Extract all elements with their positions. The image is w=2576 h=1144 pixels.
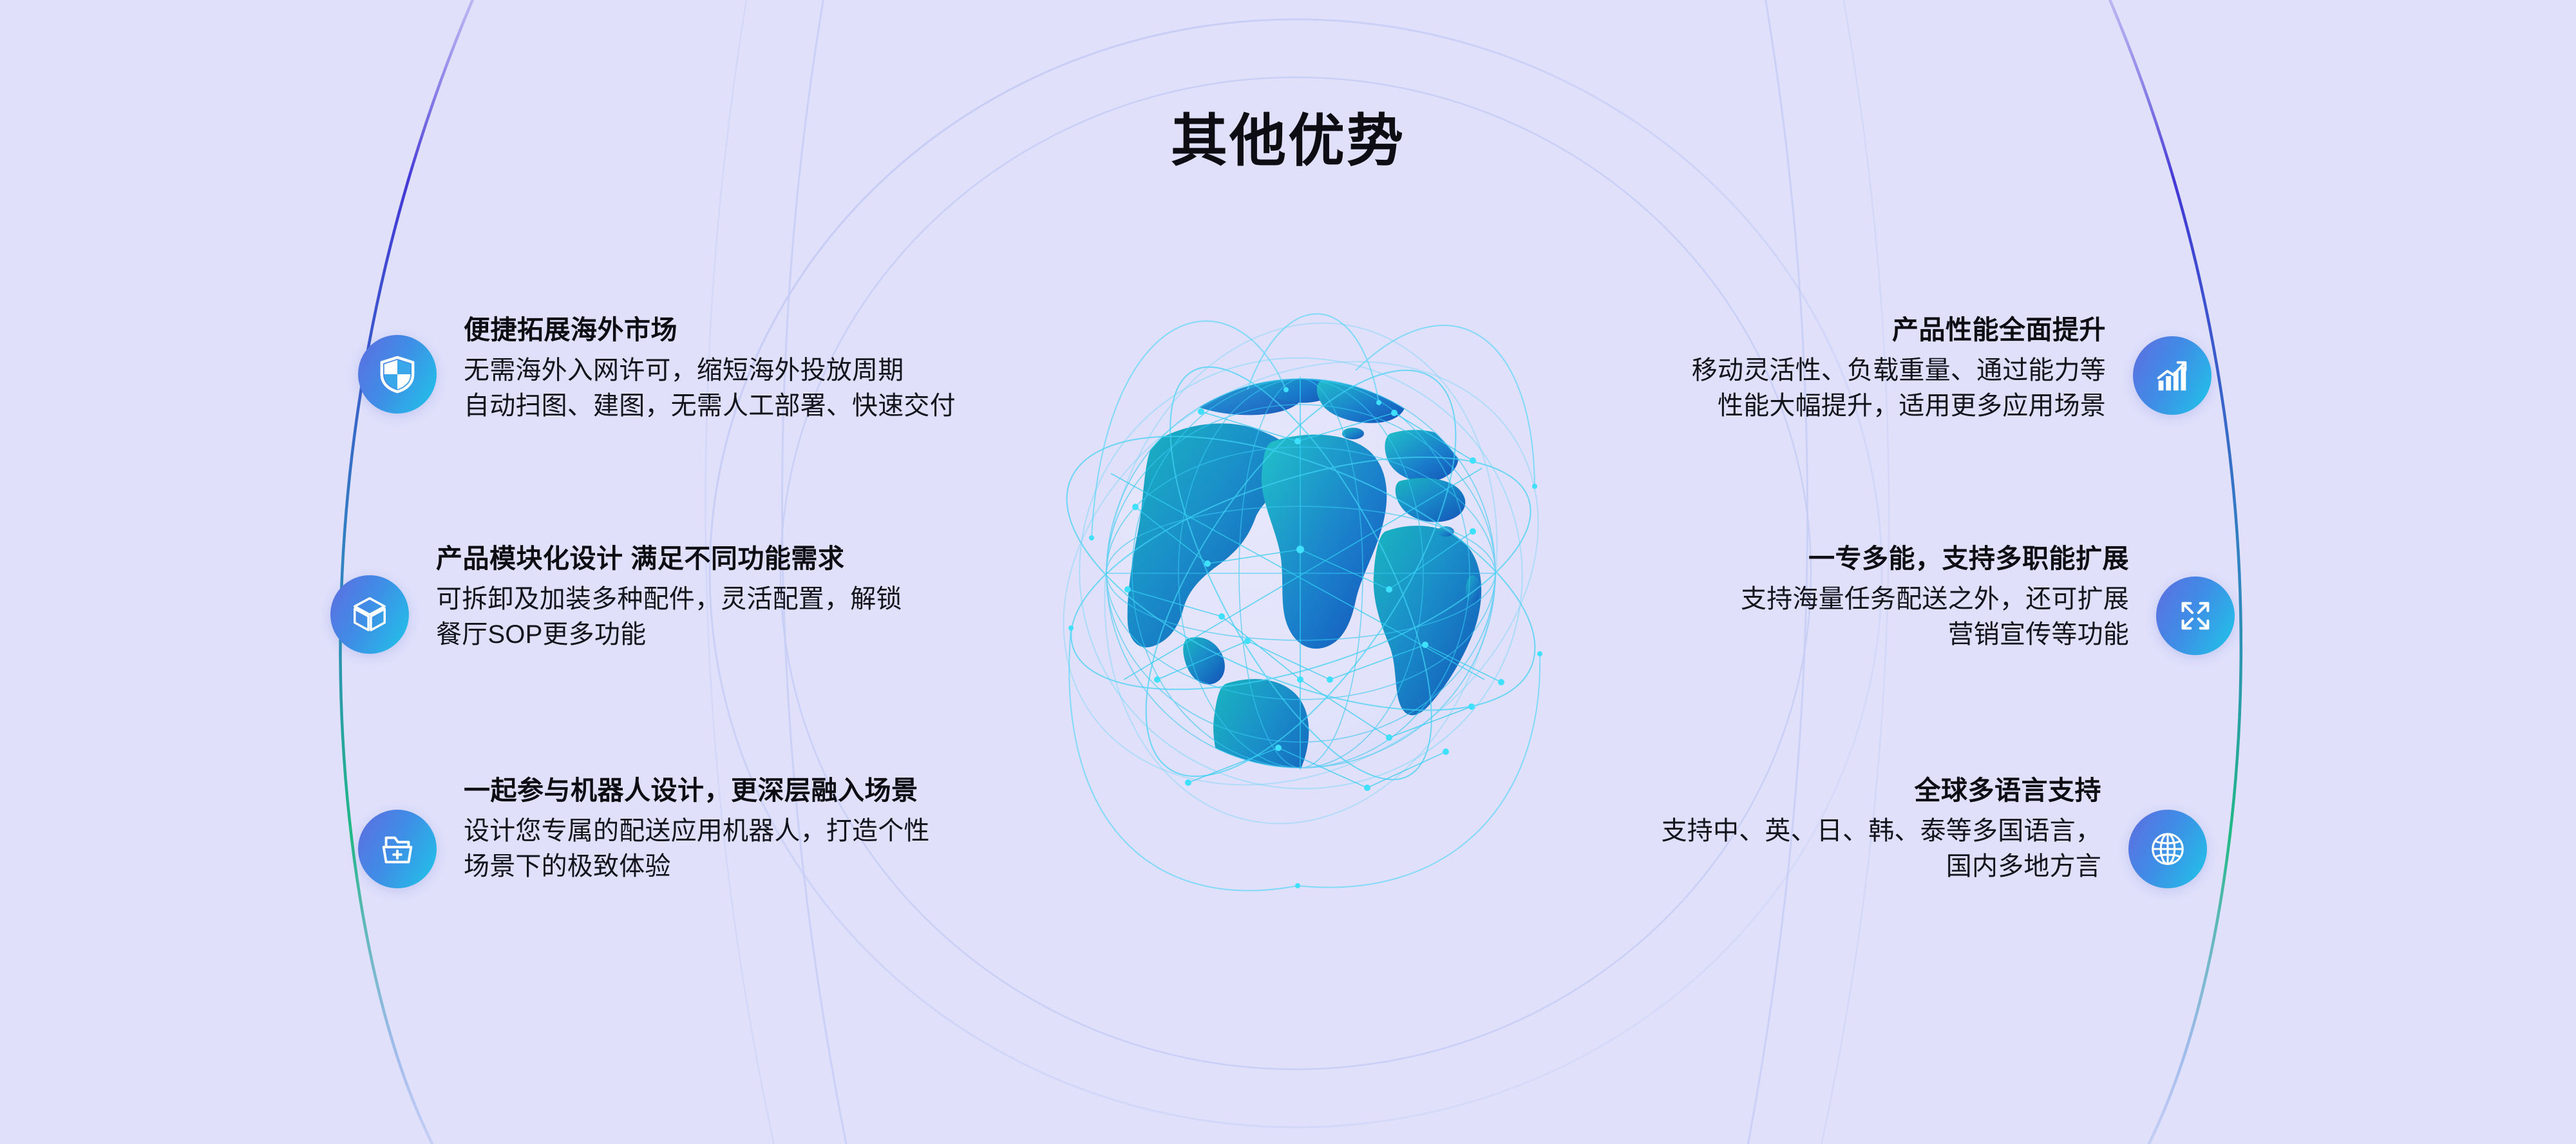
feature-line: 无需海外入网许可，缩短海外投放周期 [464, 353, 956, 388]
feature-left-3: 一起参与机器人设计，更深层融入场景 设计您专属的配送应用机器人，打造个性 场景下… [358, 776, 930, 888]
feature-left-2: 产品模块化设计 满足不同功能需求 可拆卸及加装多种配件，灵活配置，解锁 餐厅SO… [330, 544, 902, 654]
feature-line: 餐厅SOP更多功能 [436, 617, 902, 653]
feature-right-1: 产品性能全面提升 移动灵活性、负载重量、通过能力等 性能大幅提升，适用更多应用场… [1692, 316, 2211, 424]
feature-line: 自动扫图、建图，无需人工部署、快速交付 [464, 388, 956, 424]
feature-left-3-text: 一起参与机器人设计，更深层融入场景 设计您专属的配送应用机器人，打造个性 场景下… [464, 776, 930, 884]
feature-right-2-text: 一专多能，支持多职能扩展 支持海量任务配送之外，还可扩展 营销宣传等功能 [1741, 544, 2129, 653]
feature-line: 支持中、英、日、韩、泰等多国语言， [1662, 814, 2101, 849]
feature-line: 场景下的极致体验 [464, 849, 930, 884]
cube-module-icon-glyph [350, 595, 390, 634]
feature-right-3: 全球多语言支持 支持中、英、日、韩、泰等多国语言， 国内多地方言 [1662, 776, 2207, 888]
feature-line: 国内多地方言 [1662, 849, 2101, 884]
feature-title: 一起参与机器人设计，更深层融入场景 [464, 776, 918, 806]
feature-line: 营销宣传等功能 [1741, 617, 2129, 653]
feature-title: 产品性能全面提升 [1892, 316, 2106, 345]
feature-line: 支持海量任务配送之外，还可扩展 [1741, 582, 2129, 617]
feature-line: 设计您专属的配送应用机器人，打造个性 [464, 814, 930, 849]
expand-arrows-icon[interactable] [2156, 577, 2235, 655]
folder-plus-icon-glyph [377, 829, 417, 869]
cube-module-icon[interactable] [330, 575, 409, 654]
feature-left-2-text: 产品模块化设计 满足不同功能需求 可拆卸及加装多种配件，灵活配置，解锁 餐厅SO… [436, 544, 902, 653]
globe-icon[interactable] [2128, 810, 2207, 888]
shield-icon-glyph [377, 354, 417, 394]
feature-right-1-text: 产品性能全面提升 移动灵活性、负载重量、通过能力等 性能大幅提升，适用更多应用场… [1692, 316, 2106, 424]
globe-svg [995, 229, 1607, 918]
folder-plus-icon[interactable] [358, 810, 437, 888]
growth-chart-icon-glyph [2152, 356, 2192, 396]
feature-left-1: 便捷拓展海外市场 无需海外入网许可，缩短海外投放周期 自动扫图、建图，无需人工部… [358, 316, 956, 424]
feature-line: 性能大幅提升，适用更多应用场景 [1692, 388, 2106, 424]
advantages-section: 其他优势 便捷拓展海外市场 无需海外入网许可，缩短海外投放周期 自动扫图、建图，… [0, 0, 2576, 1144]
globe-icon-glyph [2148, 829, 2188, 869]
feature-right-3-text: 全球多语言支持 支持中、英、日、韩、泰等多国语言， 国内多地方言 [1662, 776, 2101, 884]
feature-line: 可拆卸及加装多种配件，灵活配置，解锁 [436, 582, 902, 617]
feature-right-2: 一专多能，支持多职能扩展 支持海量任务配送之外，还可扩展 营销宣传等功能 [1741, 544, 2235, 655]
feature-title: 便捷拓展海外市场 [464, 316, 677, 345]
growth-chart-icon[interactable] [2133, 336, 2211, 415]
feature-line: 移动灵活性、负载重量、通过能力等 [1692, 353, 2106, 388]
feature-left-1-text: 便捷拓展海外市场 无需海外入网许可，缩短海外投放周期 自动扫图、建图，无需人工部… [464, 316, 956, 424]
shield-icon[interactable] [358, 335, 437, 414]
feature-title: 产品模块化设计 满足不同功能需求 [436, 544, 844, 574]
feature-title: 全球多语言支持 [1915, 776, 2102, 806]
globe-network-illustration [995, 229, 1607, 918]
page-title: 其他优势 [0, 113, 2576, 169]
feature-title: 一专多能，支持多职能扩展 [1808, 544, 2129, 574]
expand-arrows-icon-glyph [2175, 596, 2215, 636]
